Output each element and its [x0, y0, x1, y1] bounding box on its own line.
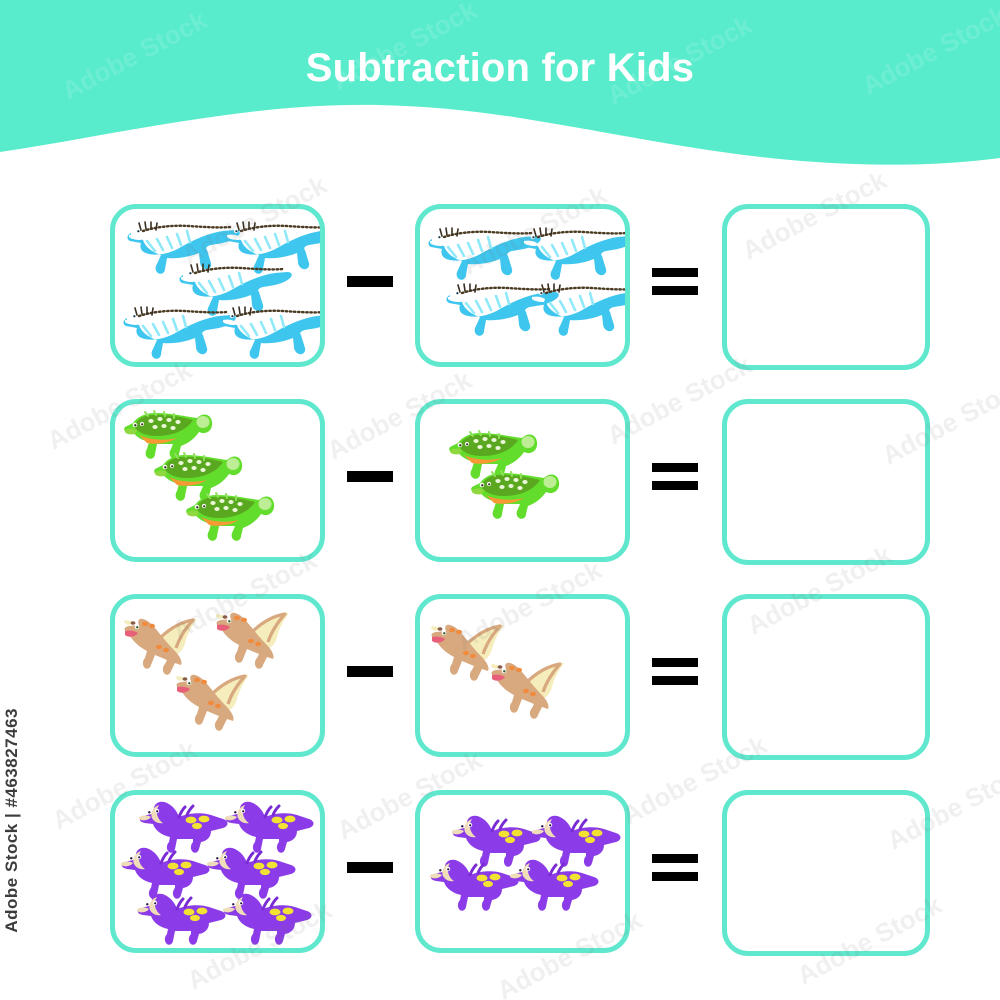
equals-bar-bottom — [652, 872, 698, 881]
purple-triceratops-group-6 — [115, 795, 320, 948]
minus-sign — [340, 786, 400, 949]
minuend-box[interactable] — [110, 204, 325, 367]
problem-row — [0, 395, 1000, 575]
minuend-box[interactable] — [110, 790, 325, 953]
problem-row — [0, 786, 1000, 966]
answer-box[interactable] — [722, 790, 930, 956]
minuend-box[interactable] — [110, 594, 325, 757]
subtrahend-box[interactable] — [415, 399, 630, 562]
equals-bar-top — [652, 658, 698, 667]
equals-bar-top — [652, 268, 698, 277]
minus-sign — [340, 395, 400, 558]
equals-bar-bottom — [652, 286, 698, 295]
problem-row — [0, 200, 1000, 380]
equals-bar-top — [652, 854, 698, 863]
minus-sign — [340, 200, 400, 363]
green-dinosaur-group-3 — [115, 404, 320, 557]
equals-bar-bottom — [652, 481, 698, 490]
purple-triceratops-group-4 — [420, 795, 625, 948]
problem-row — [0, 590, 1000, 770]
minus-bar — [347, 862, 393, 873]
stock-watermark-sidebar: Adobe Stock | #463827463 — [2, 708, 22, 933]
worksheet-page: Subtraction for Kids — [0, 0, 1000, 1000]
green-dinosaur-group-2 — [420, 404, 625, 557]
minus-bar — [347, 276, 393, 287]
equals-sign — [645, 590, 705, 753]
page-header: Subtraction for Kids — [0, 0, 1000, 190]
pterodactyl-group-3 — [115, 599, 320, 752]
minus-bar — [347, 666, 393, 677]
equals-sign — [645, 200, 705, 363]
answer-box[interactable] — [722, 204, 930, 370]
equals-sign — [645, 786, 705, 949]
equals-bar-bottom — [652, 676, 698, 685]
page-title: Subtraction for Kids — [0, 46, 1000, 91]
equals-sign — [645, 395, 705, 558]
minus-bar — [347, 471, 393, 482]
answer-box[interactable] — [722, 399, 930, 565]
pterodactyl-group-2 — [420, 599, 625, 752]
equals-bar-top — [652, 463, 698, 472]
subtrahend-box[interactable] — [415, 790, 630, 953]
header-background-shape — [0, 0, 1000, 190]
subtrahend-box[interactable] — [415, 594, 630, 757]
subtrahend-box[interactable] — [415, 204, 630, 367]
blue-dinosaur-group-4 — [420, 209, 625, 362]
blue-dinosaur-group-5 — [115, 209, 320, 362]
minus-sign — [340, 590, 400, 753]
minuend-box[interactable] — [110, 399, 325, 562]
problem-list — [0, 190, 1000, 980]
answer-box[interactable] — [722, 594, 930, 760]
